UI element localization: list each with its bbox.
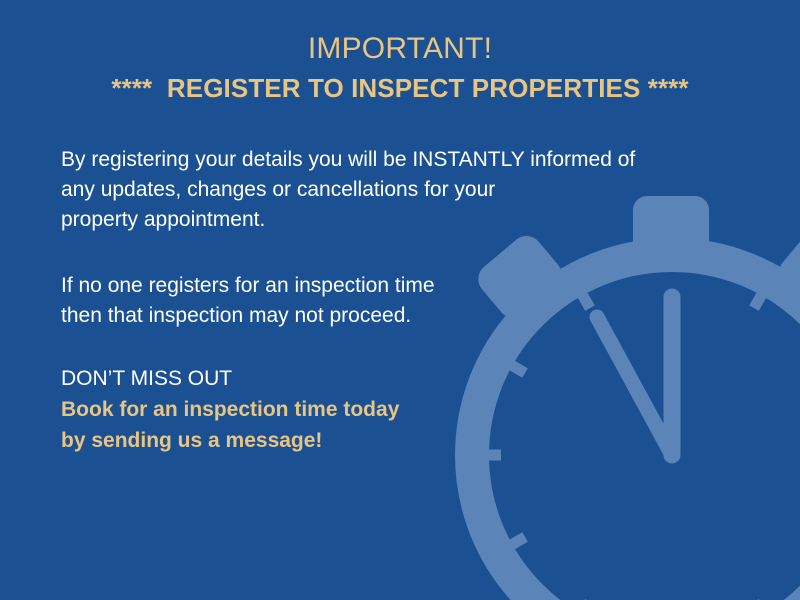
heading-block: IMPORTANT! **** REGISTER TO INSPECT PROP… <box>0 30 800 108</box>
page-subtitle: **** REGISTER TO INSPECT PROPERTIES **** <box>0 68 800 108</box>
body-block: By registering your details you will be … <box>61 145 741 456</box>
slide-canvas: IMPORTANT! **** REGISTER TO INSPECT PROP… <box>0 0 800 600</box>
cta-dont-miss-out: DON’T MISS OUT <box>61 364 741 394</box>
page-title: IMPORTANT! <box>0 30 800 68</box>
cta-book-inspection: Book for an inspection time today <box>61 394 741 425</box>
paragraph-registering-details: By registering your details you will be … <box>61 145 741 235</box>
paragraph-no-registration-warning: If no one registers for an inspection ti… <box>61 271 741 331</box>
cta-send-message: by sending us a message! <box>61 425 741 456</box>
